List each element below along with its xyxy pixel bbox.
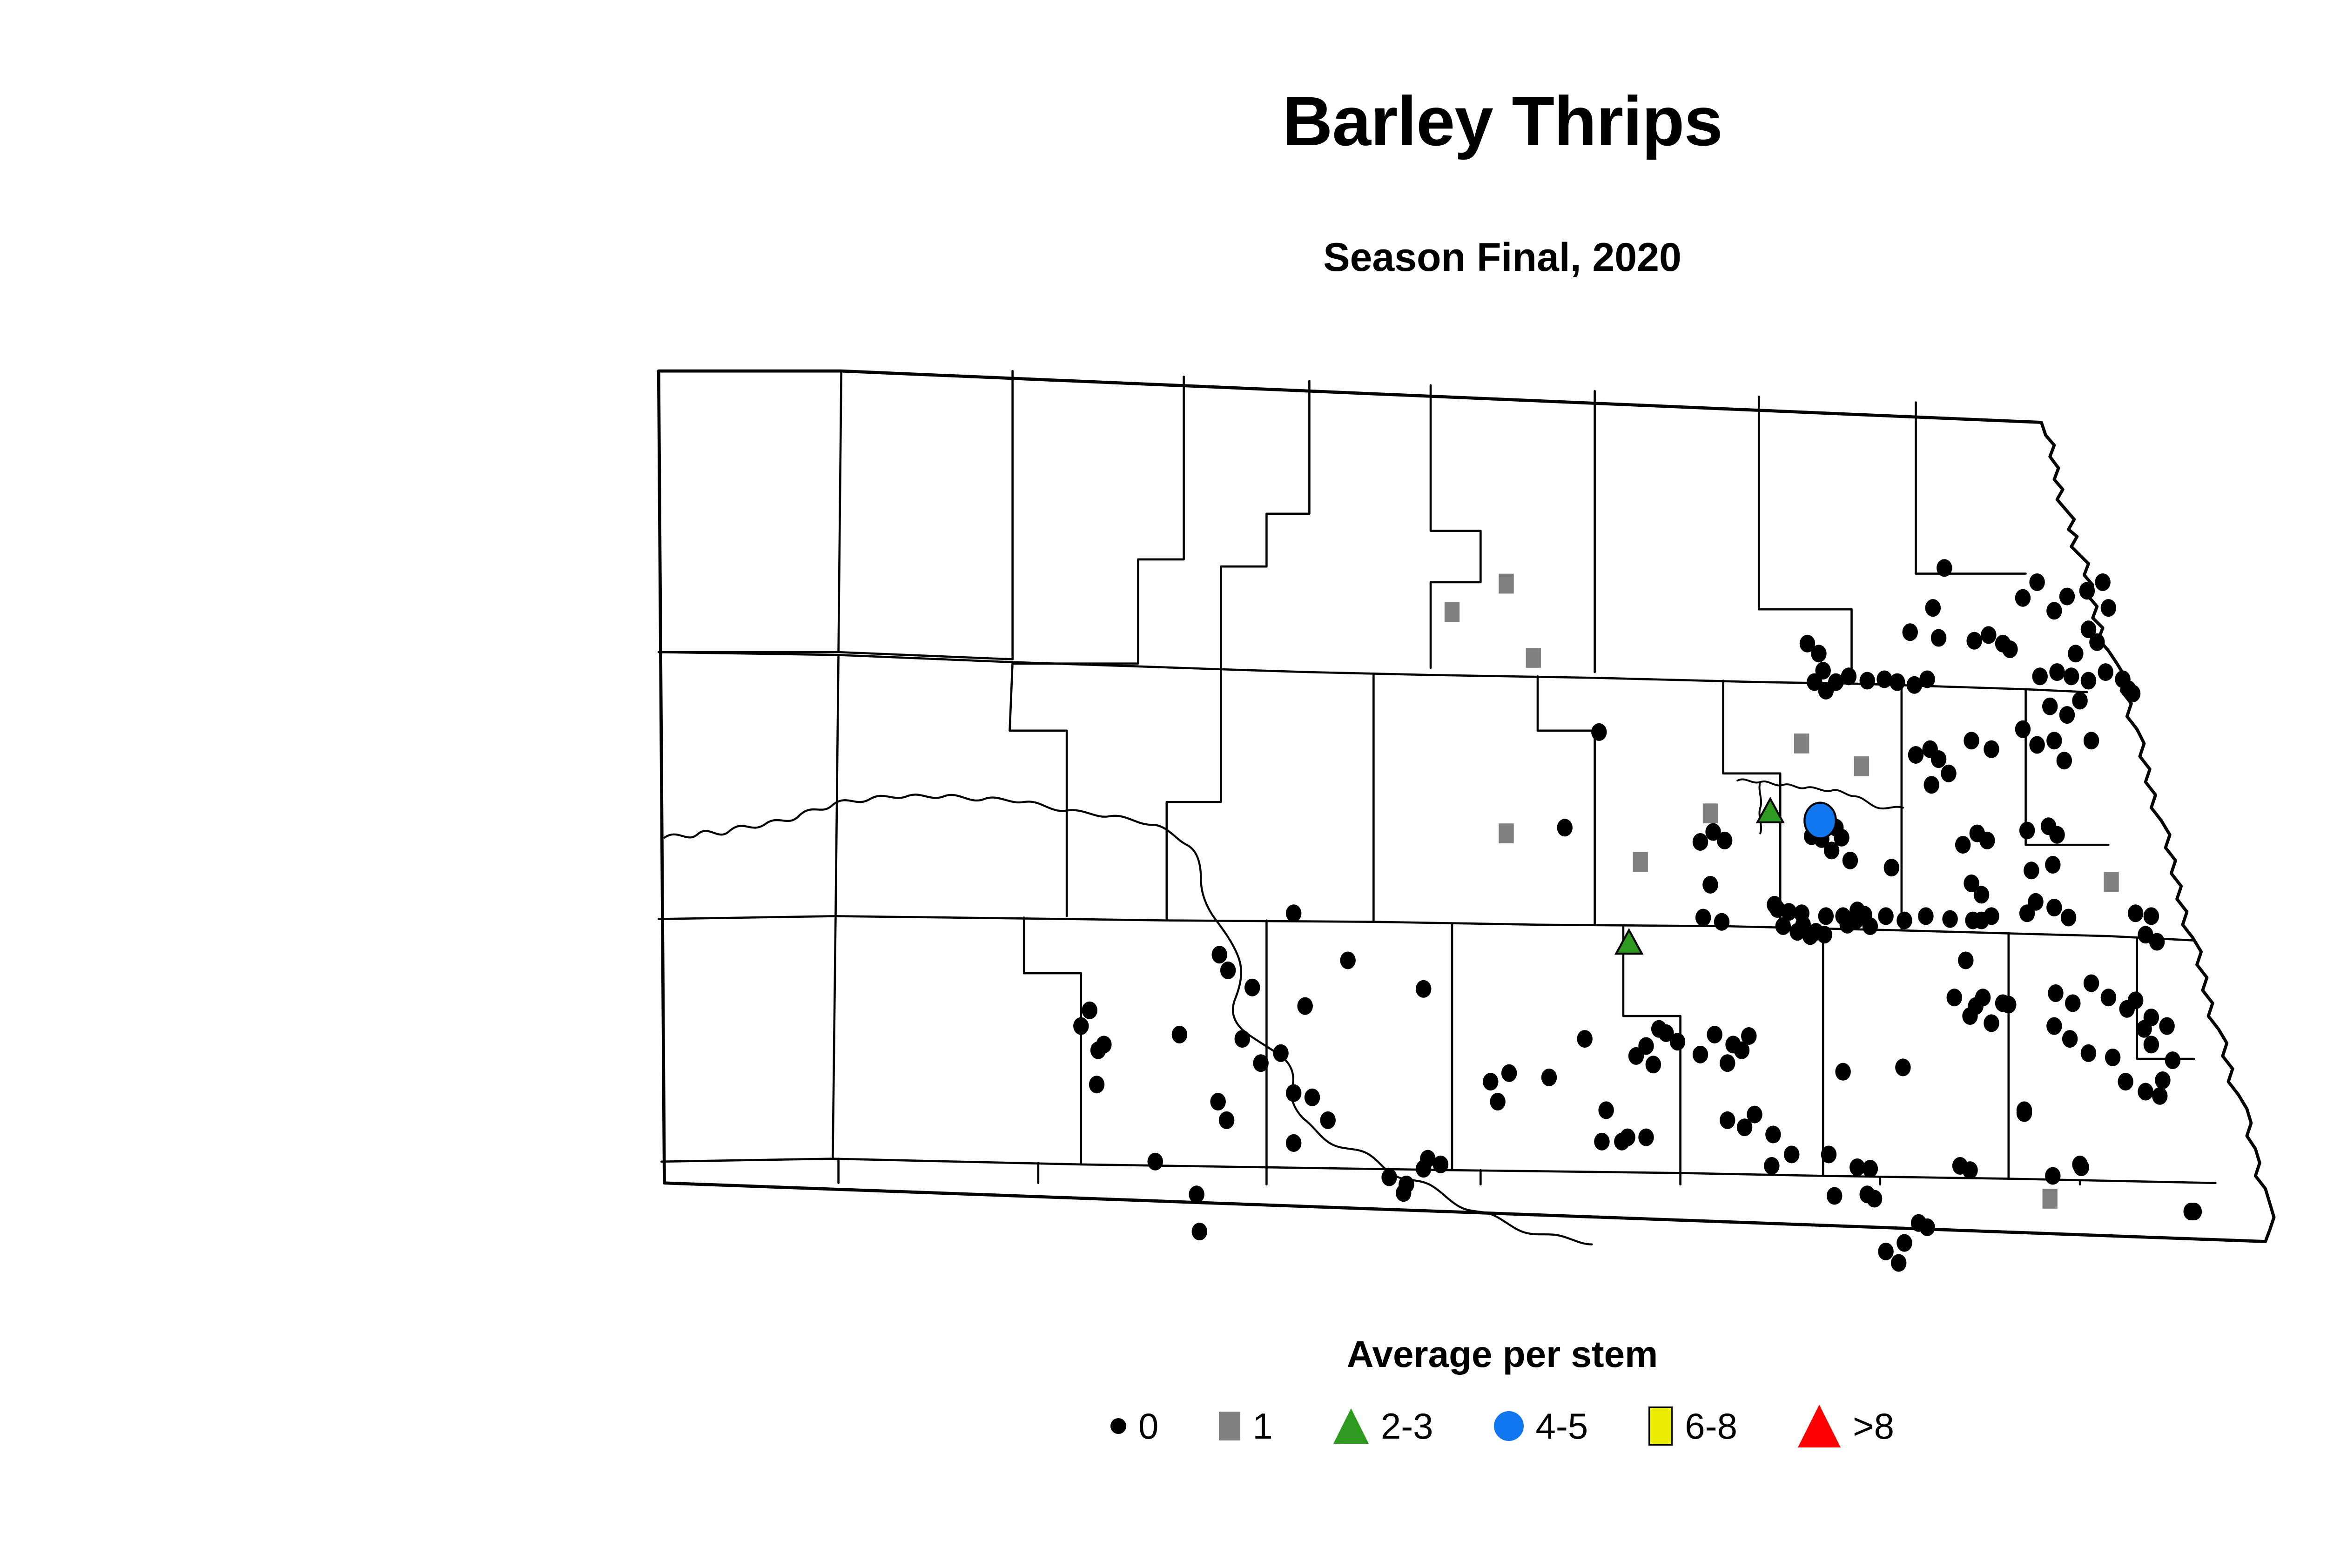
marker-count-0[interactable] [1958,951,1973,969]
marker-count-0[interactable] [2105,1049,2120,1066]
marker-count-0[interactable] [2019,821,2035,839]
marker-count-1[interactable] [1499,823,1513,843]
marker-count-0[interactable] [1767,896,1782,914]
legend-title: Average per stem [0,1336,2327,1373]
missouri-river-south [1304,1119,1592,1245]
marker-count-0[interactable] [1734,1042,1749,1059]
county-line [1013,377,1184,663]
marker-count-0[interactable] [1843,852,1858,869]
marker-count-0[interactable] [1818,907,1834,925]
legend-swatch-circle-black-icon [1110,1418,1126,1434]
marker-count-0[interactable] [1297,997,1312,1015]
marker-count-0[interactable] [1490,1093,1505,1110]
marker-count-0[interactable] [1835,1063,1850,1081]
marker-count-0[interactable] [1192,1223,1207,1240]
marker-count-0[interactable] [1891,1254,1906,1272]
marker-count-0[interactable] [1646,1056,1661,1073]
legend-item-4-5[interactable]: 4-5 [1494,1408,1588,1444]
marker-count-0[interactable] [1876,670,1892,688]
marker-count-0[interactable] [1984,1014,1999,1032]
county-line [1024,917,1081,1164]
marker-count-0[interactable] [1849,902,1865,919]
county-line [839,371,841,652]
marker-count-0[interactable] [1955,836,1971,854]
marker-count-0[interactable] [2032,667,2048,685]
marker-count-1[interactable] [1633,852,1648,872]
marker-count-0[interactable] [2064,667,2079,685]
marker-count-0[interactable] [1817,926,1832,943]
marker-count-0[interactable] [1902,623,1917,641]
marker-count-0[interactable] [1897,1234,1912,1252]
marker-count-0[interactable] [2046,899,2062,916]
marker-count-0[interactable] [2081,672,2096,690]
marker-count-0[interactable] [1895,1058,1910,1076]
legend-label-gt-8: >8 [1853,1408,1894,1444]
marker-count-0[interactable] [2079,582,2095,599]
marker-count-0[interactable] [1890,673,1905,691]
marker-count-0[interactable] [2084,732,2099,749]
marker-count-0[interactable] [2002,640,2018,658]
county-line [1221,381,1309,668]
marker-count-0[interactable] [1707,1026,1722,1043]
marker-count-0[interactable] [2057,752,2072,769]
marker-count-0[interactable] [1638,1129,1654,1146]
legend-item-6-8[interactable]: 6-8 [1648,1406,1737,1446]
marker-count-0[interactable] [2118,1073,2133,1090]
marker-count-0[interactable] [2081,1044,2096,1062]
marker-count-0[interactable] [1800,635,1815,653]
marker-count-1[interactable] [2104,872,2119,892]
marker-count-0[interactable] [2165,1051,2180,1069]
marker-count-0[interactable] [1794,904,1809,922]
marker-count-0[interactable] [2095,573,2110,591]
marker-count-0[interactable] [1964,732,1979,749]
marker-count-0[interactable] [1658,1024,1674,1042]
legend-swatch-circle-blue-icon [1494,1411,1524,1441]
marker-count-0[interactable] [1947,989,1962,1006]
marker-count-0[interactable] [2084,975,2099,992]
county-line [835,655,838,916]
markers-class-0[interactable] [1073,559,2202,1272]
marker-count-0[interactable] [1878,1243,1893,1260]
marker-count-0[interactable] [1273,1044,1288,1062]
marker-count-0[interactable] [2019,904,2035,922]
marker-count-0[interactable] [2049,663,2065,681]
legend-swatch-square-yellow-icon [1648,1406,1673,1446]
marker-count-0[interactable] [1789,923,1805,941]
marker-count-0[interactable] [2068,645,2083,662]
marker-count-0[interactable] [1286,1084,1301,1102]
marker-count-0[interactable] [1695,908,1711,926]
marker-count-0[interactable] [2059,706,2075,724]
marker-count-0[interactable] [1821,1145,1836,1163]
marker-count-0[interactable] [1211,946,1227,963]
devils-lake-arm [1760,782,1762,833]
marker-count-0[interactable] [1483,1073,1498,1090]
marker-count-0[interactable] [2098,663,2113,681]
marker-count-0[interactable] [1919,1218,1935,1236]
marker-count-0[interactable] [1219,1111,1234,1129]
marker-count-0[interactable] [1714,913,1729,931]
marker-count-0[interactable] [1381,1169,1397,1186]
marker-count-1[interactable] [1499,574,1513,594]
markers-class-2-3[interactable] [1616,799,1783,954]
legend-label-4-5: 4-5 [1536,1408,1588,1444]
marker-count-0[interactable] [1620,1129,1635,1146]
page-subtitle: Season Final, 2020 [0,237,2327,277]
marker-count-0[interactable] [2015,720,2031,738]
marker-count-0[interactable] [1591,723,1607,741]
marker-count-1[interactable] [1445,602,1459,622]
marker-count-0[interactable] [1702,876,1718,894]
markers-class-4-5[interactable] [1804,803,1836,839]
marker-count-0[interactable] [1416,980,1431,998]
marker-count-0[interactable] [2029,736,2045,754]
marker-count-0[interactable] [2128,991,2143,1009]
marker-count-0[interactable] [1840,916,1855,934]
marker-count-0[interactable] [1776,917,1791,935]
marker-count-0[interactable] [1942,910,1957,928]
marker-count-0[interactable] [2186,1203,2202,1220]
marker-count-0[interactable] [2049,826,2065,844]
marker-count-0[interactable] [2065,994,2080,1012]
marker-count-0[interactable] [1784,1145,1799,1163]
marker-count-4-5[interactable] [1804,803,1836,839]
marker-count-0[interactable] [2062,1030,2078,1048]
marker-count-0[interactable] [1148,1153,1163,1171]
marker-count-0[interactable] [1253,1054,1268,1072]
marker-count-0[interactable] [1693,1046,1708,1063]
marker-count-0[interactable] [1884,859,1899,876]
marker-count-0[interactable] [1320,1111,1336,1129]
marker-count-0[interactable] [1628,1047,1644,1065]
marker-count-0[interactable] [1210,1093,1225,1110]
marker-count-2-3[interactable] [1616,930,1642,954]
marker-count-0[interactable] [2017,1104,2032,1122]
marker-count-0[interactable] [2089,633,2105,651]
marker-count-0[interactable] [2061,908,2076,926]
marker-count-0[interactable] [1420,1150,1435,1168]
marker-count-0[interactable] [1995,994,2011,1012]
marker-count-0[interactable] [1235,1030,1250,1048]
marker-count-0[interactable] [2046,732,2062,749]
marker-count-0[interactable] [2059,588,2075,606]
marker-count-0[interactable] [2128,904,2143,922]
county-line [833,916,835,1158]
marker-count-0[interactable] [1941,765,1956,782]
county-line [1167,669,1221,919]
marker-count-0[interactable] [1172,1026,1187,1043]
legend-item-gt-8[interactable]: >8 [1798,1405,1894,1447]
marker-count-0[interactable] [1937,559,1952,577]
marker-count-0[interactable] [1557,819,1572,836]
marker-count-0[interactable] [1827,1187,1842,1205]
county-line [1538,676,1595,925]
marker-count-0[interactable] [1878,907,1893,925]
legend-swatch-square-gray-icon [1219,1412,1240,1440]
marker-count-0[interactable] [2155,1071,2170,1089]
marker-count-0[interactable] [1082,1002,1097,1019]
figure-root: Barley Thrips Season Final, 2020 [0,0,2327,1568]
marker-count-0[interactable] [1931,629,1946,647]
marker-count-0[interactable] [1501,1064,1517,1082]
marker-count-0[interactable] [1981,626,1996,644]
marker-count-0[interactable] [1747,1106,1762,1124]
marker-count-0[interactable] [1815,662,1830,680]
marker-count-0[interactable] [1189,1185,1204,1203]
marker-count-0[interactable] [1841,667,1856,685]
marker-count-1[interactable] [1703,803,1718,823]
marker-count-0[interactable] [1717,832,1732,849]
marker-count-0[interactable] [1919,670,1935,688]
marker-count-0[interactable] [1764,1157,1779,1175]
marker-count-0[interactable] [2125,685,2140,702]
marker-count-0[interactable] [1860,672,1875,690]
marker-count-0[interactable] [2024,861,2039,879]
marker-count-0[interactable] [2101,599,2116,617]
marker-count-0[interactable] [2045,856,2060,874]
marker-count-0[interactable] [2048,984,2063,1002]
marker-count-0[interactable] [1863,917,1878,935]
marker-count-0[interactable] [1396,1184,1411,1202]
marker-count-0[interactable] [1962,1007,1977,1025]
marker-count-0[interactable] [1908,746,1923,764]
marker-count-0[interactable] [1286,1134,1301,1152]
marker-count-0[interactable] [2159,1017,2174,1035]
marker-count-0[interactable] [1693,833,1708,851]
map-panel [596,303,2308,1317]
marker-count-0[interactable] [1931,750,1946,768]
legend-label-1: 1 [1252,1408,1272,1444]
marker-count-0[interactable] [1925,599,1941,617]
county-line [1916,403,2025,574]
marker-count-0[interactable] [1824,841,1839,859]
marker-count-0[interactable] [1897,912,1912,929]
county-line [1010,662,1067,916]
marker-count-0[interactable] [1974,886,1989,903]
county-line [1431,385,1480,668]
marker-count-0[interactable] [1073,1017,1089,1035]
marker-count-0[interactable] [1867,1190,1882,1208]
marker-count-0[interactable] [1286,904,1301,922]
marker-count-0[interactable] [1340,951,1355,969]
north-dakota-map[interactable] [596,303,2308,1317]
marker-count-0[interactable] [1220,962,1236,979]
legend-item-1[interactable]: 1 [1219,1408,1272,1444]
marker-count-0[interactable] [2138,1083,2153,1101]
marker-count-0[interactable] [1984,740,1999,758]
marker-count-0[interactable] [1918,907,1933,925]
marker-count-0[interactable] [2015,589,2031,607]
legend-item-0[interactable]: 0 [1110,1408,1158,1444]
marker-count-0[interactable] [2152,1087,2167,1105]
marker-count-0[interactable] [2046,602,2062,619]
legend-label-2-3: 2-3 [1381,1408,1433,1444]
marker-count-0[interactable] [1089,1076,1104,1093]
county-line [1759,397,1851,676]
marker-count-0[interactable] [1923,776,1939,794]
page-title: Barley Thrips [0,86,2327,156]
marker-count-0[interactable] [1720,1054,1735,1072]
marker-count-1[interactable] [1794,734,1809,754]
marker-count-0[interactable] [1594,1133,1609,1151]
marker-count-0[interactable] [1541,1069,1557,1086]
marker-count-0[interactable] [2144,1036,2159,1053]
marker-count-0[interactable] [1096,1036,1111,1053]
marker-count-0[interactable] [2072,692,2087,709]
marker-count-1[interactable] [2043,1189,2058,1209]
marker-count-1[interactable] [1854,756,1869,776]
legend-items: 0 1 2-3 4-5 6-8 >8 [0,1405,2327,1447]
marker-count-0[interactable] [2045,1167,2060,1184]
county-line [659,916,2194,940]
legend-swatch-triangle-red-icon [1798,1405,1841,1447]
marker-count-0[interactable] [1720,1111,1735,1129]
legend-item-2-3[interactable]: 2-3 [1333,1408,1433,1444]
marker-count-0[interactable] [1244,979,1260,996]
legend-label-6-8: 6-8 [1685,1408,1737,1444]
lake-sakakawea [665,794,1304,1118]
marker-count-0[interactable] [1975,989,1991,1006]
marker-count-0[interactable] [2144,907,2159,925]
marker-count-0[interactable] [2101,989,2116,1006]
marker-count-0[interactable] [1962,1161,1977,1179]
marker-count-0[interactable] [2144,1009,2159,1026]
legend-swatch-triangle-green-icon [1333,1408,1369,1444]
marker-count-0[interactable] [2042,698,2058,715]
marker-count-0[interactable] [1863,1160,1878,1178]
marker-count-0[interactable] [1577,1030,1592,1048]
marker-count-0[interactable] [2046,1017,2062,1035]
marker-count-0[interactable] [1974,912,1989,929]
marker-count-0[interactable] [2029,573,2045,591]
marker-count-0[interactable] [2073,1158,2089,1176]
marker-count-0[interactable] [1305,1089,1320,1106]
legend-label-0: 0 [1138,1408,1158,1444]
marker-count-0[interactable] [1966,632,1982,650]
marker-count-0[interactable] [1598,1101,1614,1119]
legend: Average per stem 0 1 2-3 4-5 6-8 [0,1336,2327,1447]
marker-count-0[interactable] [1765,1126,1781,1144]
marker-count-0[interactable] [2149,933,2165,951]
marker-count-0[interactable] [1979,832,1995,849]
marker-count-1[interactable] [1526,648,1541,668]
